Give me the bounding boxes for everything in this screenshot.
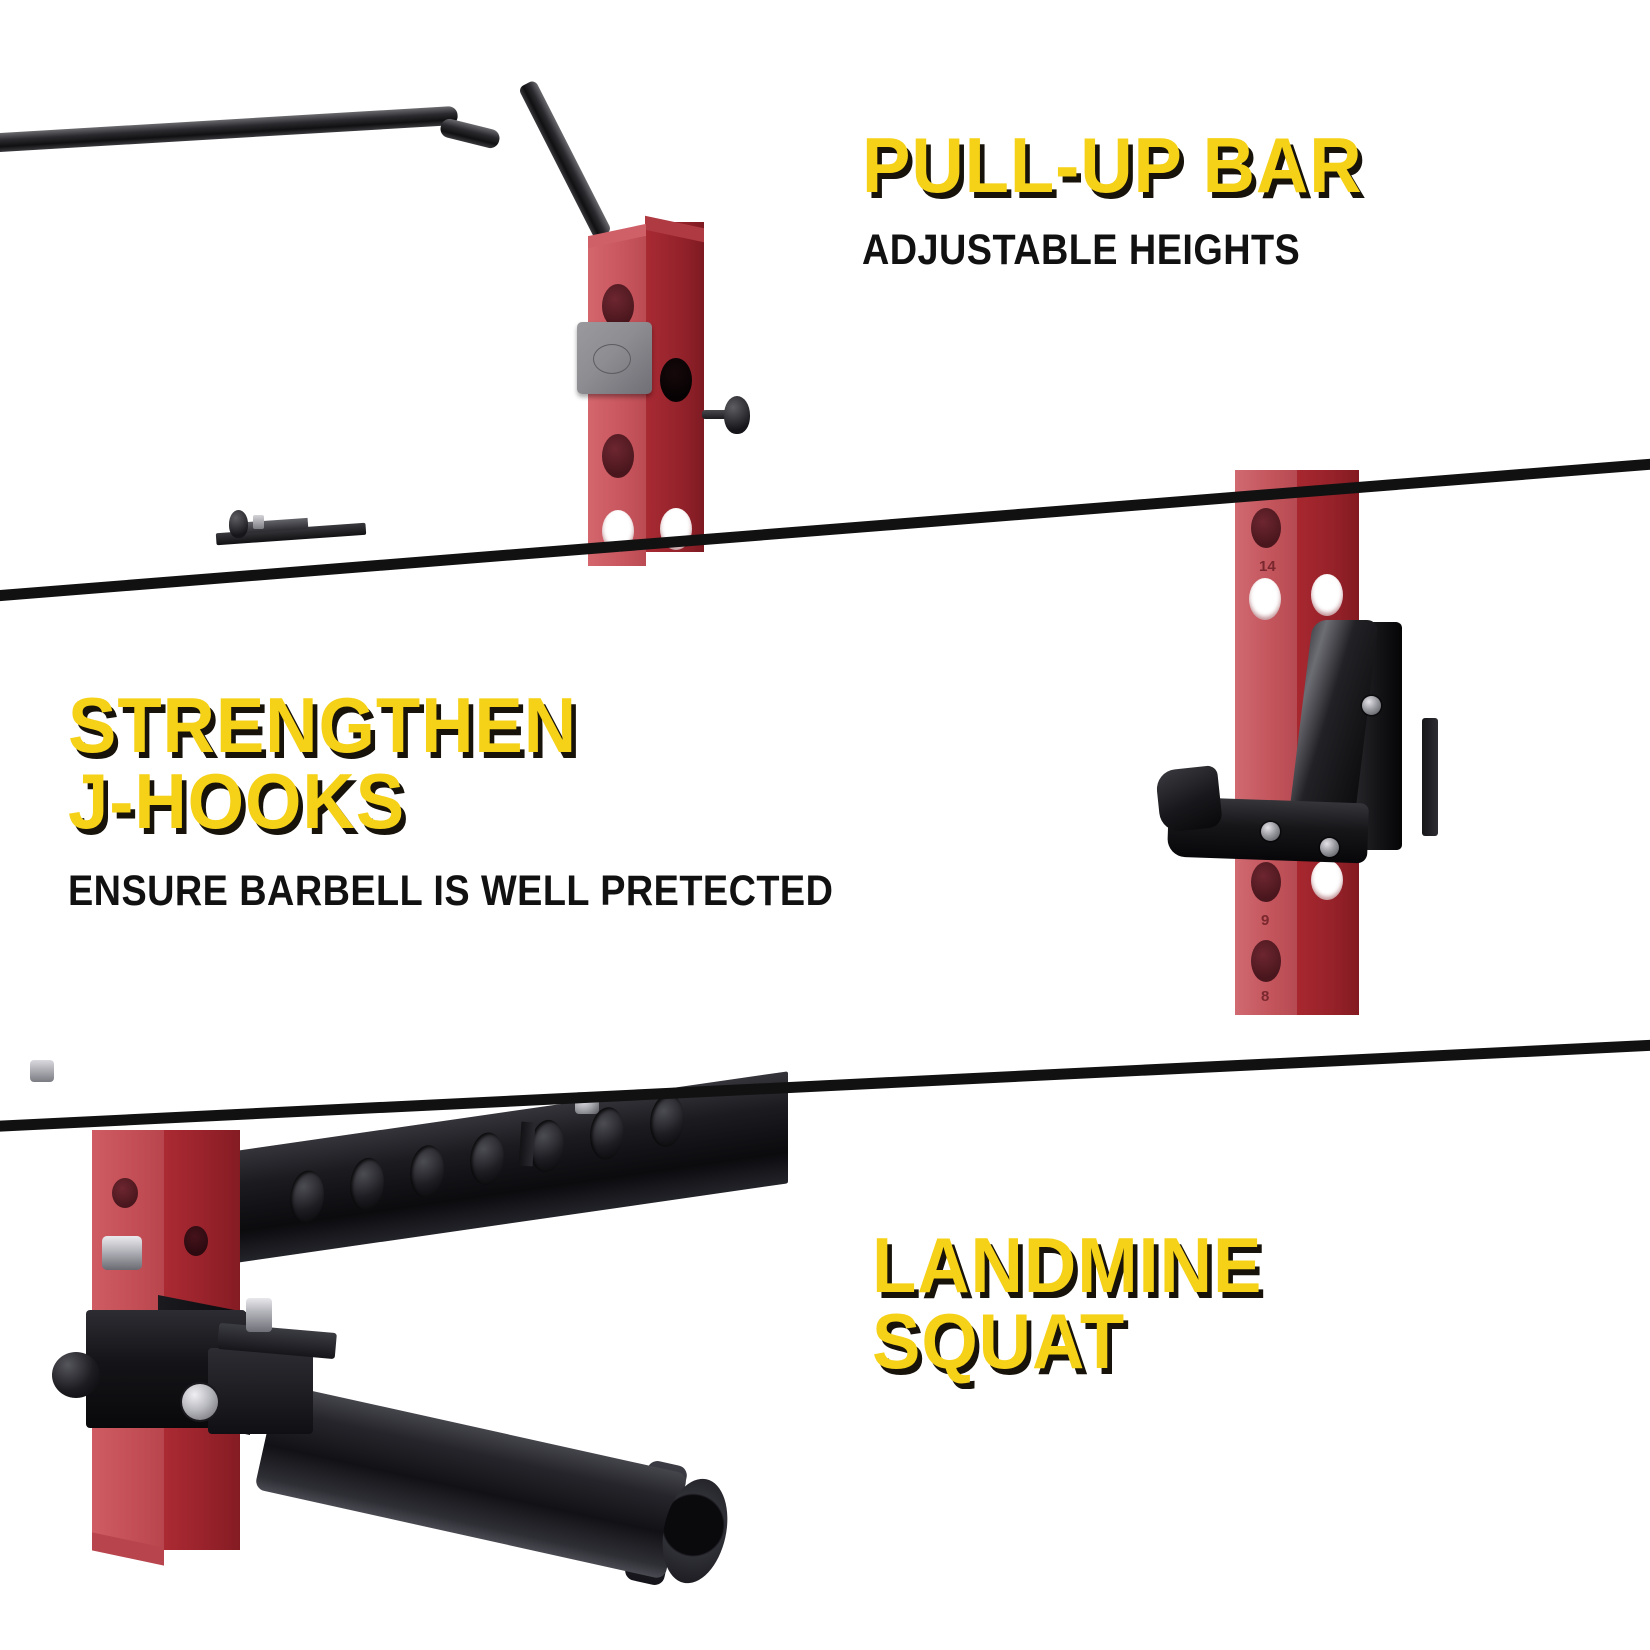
post-hole	[112, 1178, 138, 1208]
landmine-sleeve	[254, 1383, 687, 1579]
hex-bolt	[102, 1236, 142, 1270]
pull-up-bar-tube-diagonal	[518, 79, 612, 239]
pull-up-bar-tube-elbow	[439, 117, 502, 150]
landmine-headline-line-2: SQUAT	[872, 1304, 1262, 1380]
mounting-plate	[577, 322, 652, 394]
landmine-headline-line-1: LANDMINE	[872, 1228, 1262, 1304]
j-hook-illustration: 14 9 8	[1150, 470, 1550, 1030]
beam-hole	[410, 1143, 444, 1200]
post-front-face	[1235, 470, 1297, 1015]
landmine-bracket	[208, 1348, 313, 1434]
j-hook-bolt	[1320, 838, 1339, 857]
infographic-canvas: 14 9 8	[0, 0, 1650, 1650]
hole-number-label: 14	[1259, 558, 1276, 575]
hole-number-label: 8	[1261, 988, 1269, 1005]
landmine-top-nut	[246, 1298, 272, 1332]
post-hole	[1311, 574, 1343, 616]
j-hooks-text-block: STRENGTHEN J-HOOKS ENSURE BARBELL IS WEL…	[68, 688, 938, 916]
j-hook-bolt	[1261, 822, 1280, 841]
j-hook-back-tab	[1422, 718, 1438, 836]
post-hole	[1251, 862, 1281, 902]
j-hooks-headline-line-1: STRENGTHEN	[68, 688, 877, 764]
adjustment-knob-head	[724, 396, 750, 434]
landmine-squat-illustration	[30, 1060, 770, 1580]
pull-up-bar-headline: PULL-UP BAR	[862, 128, 1363, 204]
pull-pin-knob	[52, 1352, 100, 1398]
landmine-pivot-bolt	[182, 1384, 218, 1420]
beam-hole	[350, 1156, 384, 1213]
pull-up-bar-illustration	[0, 0, 830, 560]
beam-hole	[290, 1168, 324, 1225]
beam-hole	[650, 1092, 684, 1149]
pull-up-bar-tube-horizontal	[0, 106, 458, 153]
j-hook-bolt	[1362, 696, 1381, 715]
j-hook-lip	[1155, 765, 1223, 833]
landmine-lower-bolt	[30, 1060, 54, 1082]
pull-up-bar-text-block: PULL-UP BAR ADJUSTABLE HEIGHTS	[862, 128, 1400, 275]
post-hole	[1251, 508, 1281, 548]
landmine-text-block: LANDMINE SQUAT	[872, 1228, 1292, 1379]
hole-number-label: 9	[1261, 912, 1269, 929]
post-hole	[1251, 940, 1281, 982]
support-bracket-bolt	[253, 515, 264, 529]
beam-hole	[470, 1130, 504, 1187]
pull-up-bar-subline: ADJUSTABLE HEIGHTS	[862, 226, 1336, 275]
post-hole	[184, 1226, 208, 1256]
plate-ring-detail	[593, 344, 631, 374]
j-hooks-subline: ENSURE BARBELL IS WELL PRETECTED	[68, 867, 833, 916]
post-hole	[660, 358, 692, 402]
post-hole	[602, 434, 634, 478]
j-hooks-headline-line-2: J-HOOKS	[68, 764, 877, 840]
post-hole	[1249, 578, 1281, 620]
post-hole	[1311, 860, 1343, 900]
support-bracket-knob	[229, 510, 248, 538]
